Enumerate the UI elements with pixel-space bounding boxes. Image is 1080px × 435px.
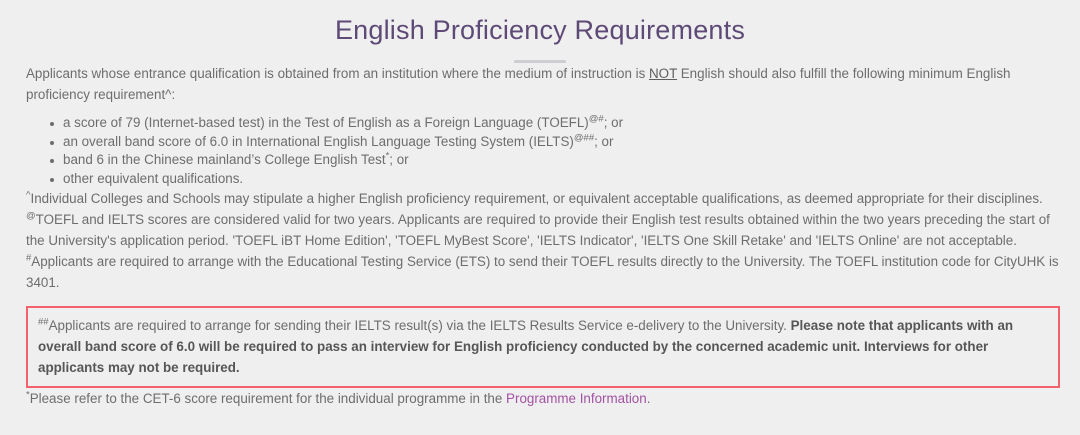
requirement-text: other equivalent qualifications. xyxy=(63,171,243,186)
list-item: an overall band score of 6.0 in Internat… xyxy=(50,133,1060,152)
note-star-text-after-link: . xyxy=(647,391,651,406)
programme-information-link[interactable]: Programme Information xyxy=(506,391,647,406)
note-caret-text: Individual Colleges and Schools may stip… xyxy=(30,191,1042,206)
note-double-hash-marker: ## xyxy=(38,317,49,328)
note-star: *Please refer to the CET-6 score require… xyxy=(26,388,1060,409)
requirement-superscript: @## xyxy=(574,132,594,143)
note-at-marker: @ xyxy=(26,211,36,222)
note-star-text-before-link: Please refer to the CET-6 score requirem… xyxy=(30,391,506,406)
list-item: band 6 in the Chinese mainland’s College… xyxy=(50,151,1060,170)
requirements-list: a score of 79 (Internet-based test) in t… xyxy=(26,114,1060,188)
requirement-suffix: ; or xyxy=(604,115,623,130)
requirement-text: an overall band score of 6.0 in Internat… xyxy=(63,134,574,149)
list-item: a score of 79 (Internet-based test) in t… xyxy=(50,114,1060,133)
note-double-hash: ##Applicants are required to arrange for… xyxy=(38,315,1048,378)
note-hash-text: Applicants are required to arrange with … xyxy=(26,254,1059,290)
page-title: English Proficiency Requirements xyxy=(0,0,1080,46)
note-double-hash-text: Applicants are required to arrange for s… xyxy=(49,318,791,333)
english-proficiency-page: English Proficiency Requirements Applica… xyxy=(0,0,1080,435)
highlight-box-ielts-note: ##Applicants are required to arrange for… xyxy=(26,306,1060,388)
note-hash: #Applicants are required to arrange with… xyxy=(26,251,1060,293)
content-area: Applicants whose entrance qualification … xyxy=(0,63,1080,409)
requirement-text: band 6 in the Chinese mainland’s College… xyxy=(63,152,386,167)
requirement-suffix: ; or xyxy=(594,134,613,149)
intro-paragraph: Applicants whose entrance qualification … xyxy=(26,63,1060,105)
list-item: other equivalent qualifications. xyxy=(50,170,1060,189)
requirement-text: a score of 79 (Internet-based test) in t… xyxy=(63,115,589,130)
intro-text-before-not: Applicants whose entrance qualification … xyxy=(26,66,649,81)
note-at-text: TOEFL and IELTS scores are considered va… xyxy=(26,212,1050,248)
requirement-suffix: ; or xyxy=(389,152,408,167)
note-caret: ^Individual Colleges and Schools may sti… xyxy=(26,188,1060,209)
requirement-superscript: @# xyxy=(589,114,604,125)
intro-not-emphasis: NOT xyxy=(649,66,677,81)
note-at: @TOEFL and IELTS scores are considered v… xyxy=(26,209,1060,251)
